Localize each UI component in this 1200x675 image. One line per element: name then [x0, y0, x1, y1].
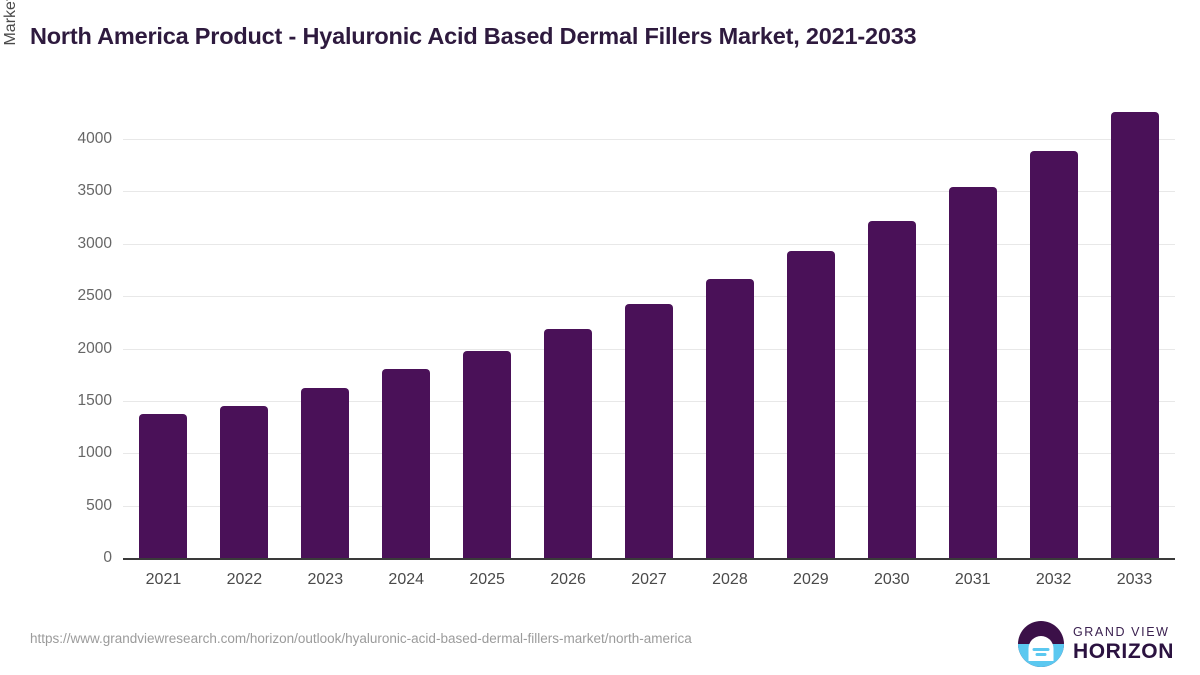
logo-line-upper	[1032, 648, 1049, 651]
bar[interactable]	[1030, 151, 1078, 558]
bar[interactable]	[301, 388, 349, 558]
logo-text-grand-view: GRAND VIEW	[1073, 625, 1174, 640]
y-axis-title: Market Size (US$M)	[0, 0, 22, 183]
bar[interactable]	[463, 351, 511, 558]
x-tick-label: 2026	[528, 571, 608, 589]
x-tick-label: 2027	[609, 571, 689, 589]
y-tick-label: 4000	[32, 130, 112, 148]
horizon-sun-icon	[1018, 621, 1064, 667]
plot-area	[123, 139, 1175, 558]
bar[interactable]	[382, 369, 430, 558]
y-tick-label: 1000	[32, 444, 112, 462]
x-tick-label: 2023	[285, 571, 365, 589]
bar[interactable]	[949, 187, 997, 558]
bar[interactable]	[220, 406, 268, 558]
y-tick-label: 2500	[32, 287, 112, 305]
bar[interactable]	[544, 329, 592, 558]
logo-wordmark: GRAND VIEW HORIZON	[1073, 625, 1174, 663]
source-url[interactable]: https://www.grandviewresearch.com/horizo…	[30, 631, 692, 646]
bar[interactable]	[787, 251, 835, 558]
gridline	[123, 244, 1175, 245]
x-tick-label: 2032	[1014, 571, 1094, 589]
x-axis-line	[123, 558, 1175, 560]
gridline	[123, 296, 1175, 297]
x-tick-label: 2024	[366, 571, 446, 589]
y-tick-label: 3000	[32, 235, 112, 253]
y-tick-label: 0	[32, 549, 112, 567]
y-tick-label: 3500	[32, 182, 112, 200]
logo-line-lower	[1035, 653, 1046, 656]
x-tick-label: 2028	[690, 571, 770, 589]
gridline	[123, 191, 1175, 192]
chart-page: North America Product - Hyaluronic Acid …	[0, 0, 1200, 675]
x-tick-label: 2022	[204, 571, 284, 589]
bar[interactable]	[868, 221, 916, 558]
x-tick-label: 2031	[933, 571, 1013, 589]
chart-canvas: Market Size (US$M) 050010001500200025003…	[0, 0, 1200, 610]
x-tick-label: 2021	[123, 571, 203, 589]
y-tick-label: 500	[32, 497, 112, 515]
x-tick-label: 2025	[447, 571, 527, 589]
bar[interactable]	[1111, 112, 1159, 558]
x-tick-label: 2033	[1095, 571, 1175, 589]
bar[interactable]	[139, 414, 187, 558]
bar[interactable]	[625, 304, 673, 558]
y-tick-label: 1500	[32, 392, 112, 410]
y-tick-label: 2000	[32, 340, 112, 358]
x-tick-label: 2029	[771, 571, 851, 589]
gridline	[123, 139, 1175, 140]
x-tick-label: 2030	[852, 571, 932, 589]
grand-view-horizon-logo: GRAND VIEW HORIZON	[1018, 620, 1174, 668]
logo-text-horizon: HORIZON	[1073, 640, 1174, 663]
bar[interactable]	[706, 279, 754, 558]
